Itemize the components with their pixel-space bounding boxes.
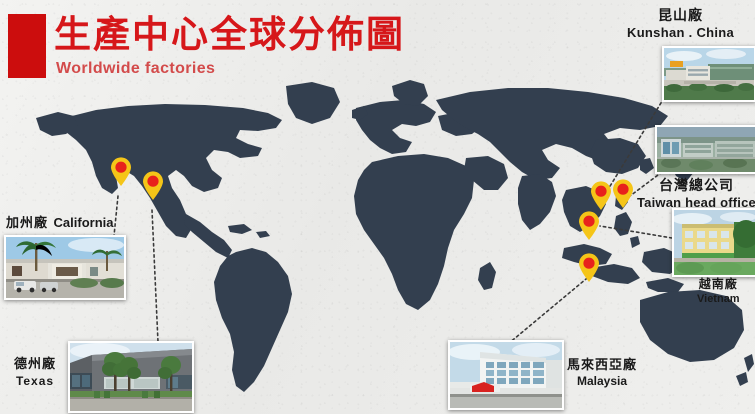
map-pin-texas[interactable] bbox=[142, 171, 164, 201]
photo-california[interactable] bbox=[4, 235, 126, 300]
title-accent-square bbox=[8, 14, 46, 78]
caption-taiwan-en: Taiwan head office bbox=[637, 195, 755, 211]
photo-kunshan[interactable] bbox=[662, 46, 755, 102]
caption-taiwan: 台灣總公司 Taiwan head office bbox=[637, 178, 755, 211]
slide-canvas: 昆山廠 Kunshan . China 台灣總公司 Taiwan head of… bbox=[0, 0, 755, 414]
photo-malaysia[interactable] bbox=[448, 340, 564, 410]
caption-texas-zh: 德州廠 bbox=[14, 356, 56, 373]
caption-california-en: California bbox=[54, 215, 114, 230]
photo-taiwan[interactable] bbox=[655, 125, 755, 174]
photo-taiwan-image bbox=[657, 127, 755, 172]
photo-vietnam-image bbox=[674, 210, 755, 275]
photo-texas[interactable] bbox=[68, 341, 194, 413]
caption-kunshan: 昆山廠 Kunshan . China bbox=[627, 8, 734, 41]
map-pin-malaysia[interactable] bbox=[578, 253, 600, 283]
caption-vietnam-en: Vietnam bbox=[697, 292, 740, 306]
photo-texas-image bbox=[70, 343, 192, 411]
caption-california: 加州廠 California bbox=[6, 214, 114, 232]
caption-kunshan-zh: 昆山廠 bbox=[627, 8, 734, 25]
caption-malaysia: 馬來西亞廠 Malaysia bbox=[567, 358, 637, 389]
photo-kunshan-image bbox=[664, 48, 754, 100]
caption-malaysia-en: Malaysia bbox=[567, 374, 637, 389]
map-pin-kunshan[interactable] bbox=[590, 181, 612, 211]
caption-taiwan-zh: 台灣總公司 bbox=[637, 178, 755, 195]
photo-malaysia-image bbox=[450, 342, 562, 408]
page-title-zh: 生產中心全球分佈圖 bbox=[54, 12, 405, 58]
caption-texas: 德州廠 Texas bbox=[14, 356, 56, 389]
caption-vietnam: 越南廠 Vietnam bbox=[697, 277, 740, 306]
photo-vietnam[interactable] bbox=[672, 208, 755, 277]
caption-kunshan-en: Kunshan . China bbox=[627, 25, 734, 41]
map-pin-california[interactable] bbox=[110, 157, 132, 187]
caption-malaysia-zh: 馬來西亞廠 bbox=[567, 358, 637, 374]
caption-vietnam-zh: 越南廠 bbox=[697, 277, 740, 292]
caption-california-zh: 加州廠 bbox=[6, 216, 54, 231]
photo-california-image bbox=[6, 237, 124, 298]
caption-california-line: 加州廠 California bbox=[6, 215, 114, 230]
map-pin-taiwan[interactable] bbox=[612, 179, 634, 209]
page-title-en: Worldwide factories bbox=[56, 60, 215, 78]
caption-texas-en: Texas bbox=[14, 373, 56, 389]
map-pin-vietnam[interactable] bbox=[578, 211, 600, 241]
